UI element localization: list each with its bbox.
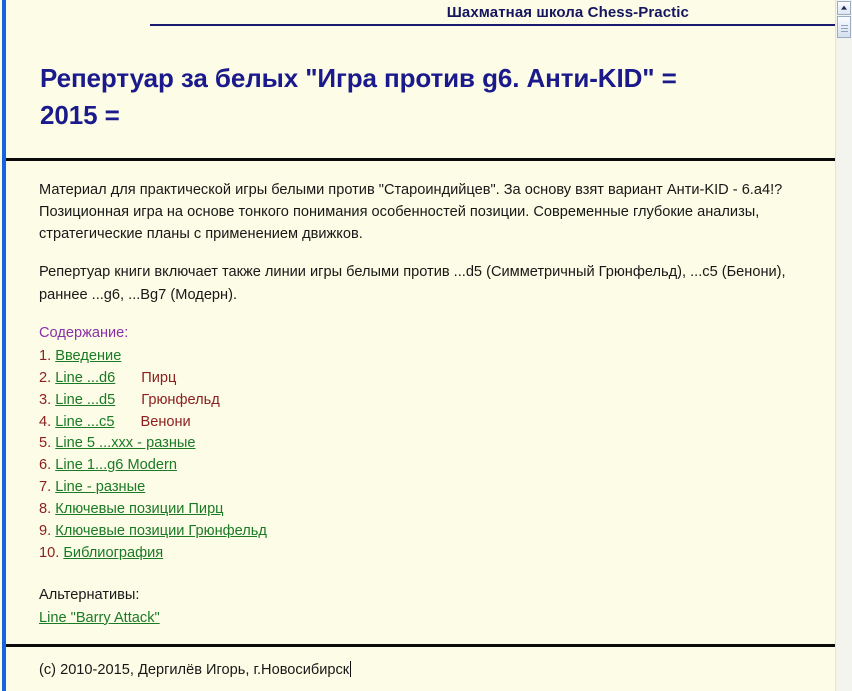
contents-list-item: 9. Ключевые позиции Грюнфельд — [39, 521, 835, 543]
contents-item-number: 2. — [39, 370, 51, 386]
contents-item-link[interactable]: Line ...d6 — [55, 370, 115, 386]
scroll-up-button[interactable] — [837, 1, 851, 15]
scrollbar-grip-line — [841, 31, 848, 32]
footer: (c) 2010-2015, Дергилёв Игорь, г.Новосиб… — [6, 647, 835, 678]
contents-item-number: 1. — [39, 348, 51, 364]
copyright-text: (c) 2010-2015, Дергилёв Игорь, г.Новосиб… — [39, 662, 349, 678]
contents-list-item: 2. Line ...d6Пирц — [39, 368, 835, 390]
alternatives-block: Альтернативы: Line "Barry Attack" — [39, 585, 835, 630]
alternatives-heading: Альтернативы: — [39, 585, 835, 607]
intro-paragraph-2: Репертуар книги включает также линии игр… — [39, 261, 829, 305]
triangle-up-icon — [841, 6, 847, 10]
contents-item-number: 6. — [39, 457, 51, 473]
contents-item-number: 5. — [39, 435, 51, 451]
contents-item-link[interactable]: Line 5 ...xxx - разные — [55, 435, 195, 451]
site-header-divider — [150, 24, 835, 26]
alternatives-link-barry-attack[interactable]: Line "Barry Attack" — [39, 610, 160, 626]
document-page: Шахматная школа Chess-Practic Репертуар … — [6, 0, 835, 691]
contents-item-note: Венони — [140, 412, 190, 434]
scrollbar-grip-line — [841, 25, 848, 26]
scrollbar-thumb[interactable] — [837, 16, 851, 38]
contents-item-number: 4. — [39, 414, 51, 430]
site-header: Шахматная школа Chess-Practic — [6, 0, 835, 28]
contents-list-item: 8. Ключевые позиции Пирц — [39, 499, 835, 521]
contents-heading: Содержание: — [39, 322, 835, 344]
page-title: Репертуар за белых "Игра против g6. Анти… — [6, 28, 720, 134]
contents-item-number: 3. — [39, 392, 51, 408]
scrollbar-grip-line — [841, 28, 848, 29]
contents-item-link[interactable]: Line ...d5 — [55, 392, 115, 408]
contents-list-item: 1. Введение — [39, 346, 835, 368]
contents-item-link[interactable]: Введение — [55, 348, 121, 364]
contents-list-item: 3. Line ...d5Грюнфельд — [39, 390, 835, 412]
contents-list: 1. Введение2. Line ...d6Пирц3. Line ...d… — [39, 346, 835, 565]
contents-list-item: 10. Библиография — [39, 543, 835, 565]
contents-list-item: 5. Line 5 ...xxx - разные — [39, 433, 835, 455]
contents-list-item: 4. Line ...c5Венони — [39, 412, 835, 434]
contents-item-link[interactable]: Line ...c5 — [55, 414, 114, 430]
site-header-title: Шахматная школа Chess-Practic — [447, 4, 689, 21]
window-left-edge-bar — [2, 0, 6, 691]
document-body: Материал для практической игры белыми пр… — [6, 161, 835, 630]
text-cursor-caret — [350, 661, 351, 677]
contents-item-link[interactable]: Ключевые позиции Пирц — [55, 501, 223, 517]
contents-item-link[interactable]: Line 1...g6 Modern — [55, 457, 177, 473]
contents-item-number: 7. — [39, 479, 51, 495]
contents-item-number: 10. — [39, 545, 59, 561]
intro-paragraph-1: Материал для практической игры белыми пр… — [39, 179, 829, 246]
vertical-scrollbar[interactable] — [835, 0, 852, 691]
contents-list-item: 6. Line 1...g6 Modern — [39, 455, 835, 477]
contents-item-link[interactable]: Ключевые позиции Грюнфельд — [55, 523, 267, 539]
contents-item-link[interactable]: Библиография — [63, 545, 163, 561]
contents-item-note: Пирц — [141, 368, 176, 390]
contents-item-number: 8. — [39, 501, 51, 517]
contents-item-note: Грюнфельд — [141, 390, 219, 412]
contents-item-link[interactable]: Line - разные — [55, 479, 145, 495]
contents-list-item: 7. Line - разные — [39, 477, 835, 499]
contents-item-number: 9. — [39, 523, 51, 539]
